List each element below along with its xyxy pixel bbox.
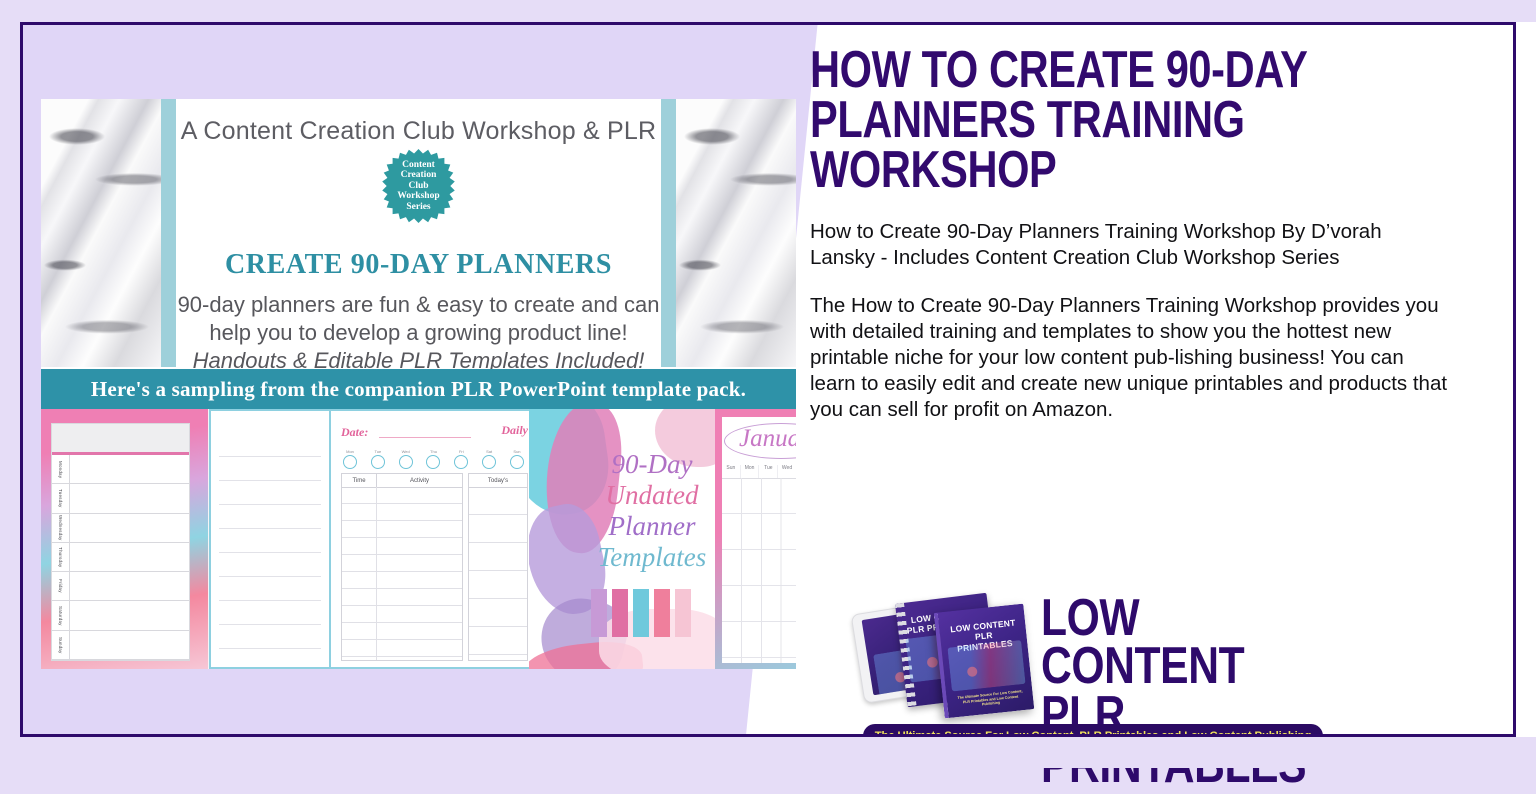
weekly-planner-header-box [52,424,189,455]
daily-day-circle [454,455,468,469]
cover-title-line-3: Planner [587,511,717,542]
page-margin-left [0,0,20,768]
color-swatch [591,589,607,637]
sample-page-weekly-planner: Monday Tuesday Wednesday Thursday Friday… [41,409,208,669]
image-body-line-1: 90-day planners are fun & easy to create… [81,291,756,347]
image-body-text-1: 90-day planners are fun & easy to create… [81,291,756,319]
book-mockup: LOW CONTENT PLR PRINTABLES The Ultimate … [934,604,1035,719]
cover-color-swatches [591,589,691,637]
calendar-month-name: January [726,425,796,453]
color-swatch [633,589,649,637]
badge-line-1: Content [402,160,435,171]
badge-line-2: Creation [401,170,437,181]
weekly-planner-sheet: Monday Tuesday Wednesday Thursday Friday… [51,423,190,661]
daily-col-activity: Activity [377,474,462,487]
daily-day-circle [482,455,496,469]
daily-day: Mon [343,449,357,469]
daily-schedule-header: Time Activity [342,474,462,488]
brand-wordmark-line-1: LOW CONTENT [1041,594,1336,690]
calendar-weekday: Mon [741,465,760,478]
weekly-day-label: Saturday [52,601,70,629]
page-margin-bottom [0,737,1536,768]
weekly-day-label: Monday [52,455,70,483]
color-swatch [654,589,670,637]
badge-line-4: Workshop [397,191,439,202]
daily-schedule-rows [342,487,462,660]
page-title: HOW TO CREATE 90-DAY PLANNERS TRAINING W… [810,45,1466,195]
daily-day-circle [343,455,357,469]
daily-day-abbr: Thu [426,449,440,454]
weekly-day-label: Wednesday [52,514,70,542]
daily-col-today: Today's [469,474,527,488]
daily-day-abbr: Sun [510,449,524,454]
daily-day-abbr: Mon [343,449,357,454]
weekly-day-label: Tuesday [52,484,70,512]
book-subtitle: The Ultimate Source For Low Content, PLR… [955,689,1027,710]
sample-page-lined-notes [209,409,331,669]
sample-page-monthly-calendar: January Sun Mon Tue Wed Thu Fri Sat [715,409,796,669]
product-preview-image: A Content Creation Club Workshop & PLR C… [41,99,796,669]
lined-notes-rules [219,433,321,657]
weekly-row: Sunday [52,631,189,660]
sample-page-cover: 90-Day Undated Planner Templates [529,409,719,669]
daily-day-circle [399,455,413,469]
daily-day-circle [426,455,440,469]
daily-date-writeline [379,437,471,438]
cover-title-line-2: Undated [587,480,717,511]
weekly-planner-rows: Monday Tuesday Wednesday Thursday Friday… [52,455,189,660]
weekly-row: Monday [52,455,189,484]
workshop-series-badge: Content Creation Club Workshop Series [382,149,456,223]
badge-line-5: Series [406,202,430,213]
calendar-weekday: Tue [759,465,778,478]
badge-line-3: Club [408,181,428,192]
daily-today-rows [469,487,527,660]
color-swatch [612,589,628,637]
brand-logo-lockup: LOW CONTENT PLR PRINTABLES LOW CONTENT P… [855,588,1325,753]
description-paragraph: The How to Create 90-Day Planners Traini… [810,293,1450,423]
daily-today-panel: Today's [468,473,528,661]
page-margin-top [0,0,1536,22]
daily-day-circle [371,455,385,469]
daily-heading-label: Daily [501,423,528,438]
daily-day-circles: Mon Tue Wed Thu Fri Sat Sun [343,449,524,469]
sample-page-daily-planner: Date: Daily Mon Tue Wed Thu Fri Sat Sun … [329,409,538,669]
daily-day: Wed [399,449,413,469]
weekly-row: Thursday [52,543,189,572]
daily-day-abbr: Sat [482,449,496,454]
daily-schedule-table: Time Activity [341,473,463,661]
daily-day: Fri [454,449,468,469]
sampling-banner-text: Here's a sampling from the companion PLR… [91,377,746,402]
calendar-weekday: Wed [778,465,796,478]
daily-col-time: Time [342,474,377,487]
daily-day-abbr: Tue [371,449,385,454]
cover-title-line-4: Templates [587,542,717,573]
weekly-row: Tuesday [52,484,189,513]
weekly-day-label: Friday [52,572,70,600]
book-illustration [947,640,1025,691]
daily-day-circle [510,455,524,469]
weekly-row: Wednesday [52,514,189,543]
intro-paragraph: How to Create 90-Day Planners Training W… [810,219,1450,271]
daily-date-label: Date: [341,425,368,440]
weekly-row: Saturday [52,601,189,630]
color-swatch [675,589,691,637]
product-mockup-stack: LOW CONTENT PLR PRINTABLES LOW CONTENT P… [855,592,1033,714]
daily-day-abbr: Fri [454,449,468,454]
image-body-text-2: help you to develop a growing product li… [81,319,756,347]
weekly-day-label: Sunday [52,631,70,659]
daily-day-abbr: Wed [399,449,413,454]
calendar-weekday: Sun [722,465,741,478]
cover-title-line-1: 90-Day [587,449,717,480]
daily-day: Tue [371,449,385,469]
cover-title: 90-Day Undated Planner Templates [587,449,717,573]
image-main-title: CREATE 90-DAY PLANNERS [41,249,796,281]
sampling-banner: Here's a sampling from the companion PLR… [41,369,796,409]
daily-day: Sat [482,449,496,469]
daily-day: Thu [426,449,440,469]
daily-day: Sun [510,449,524,469]
calendar-day-grid [722,478,796,663]
calendar-weekday-header: Sun Mon Tue Wed Thu Fri Sat [722,465,796,479]
weekly-row: Friday [52,572,189,601]
content-column: HOW TO CREATE 90-DAY PLANNERS TRAINING W… [810,45,1470,423]
calendar-sheet: January Sun Mon Tue Wed Thu Fri Sat [722,417,796,663]
planner-sample-strip: Monday Tuesday Wednesday Thursday Friday… [41,409,796,669]
weekly-day-label: Thursday [52,543,70,571]
image-tagline: A Content Creation Club Workshop & PLR [41,117,796,146]
